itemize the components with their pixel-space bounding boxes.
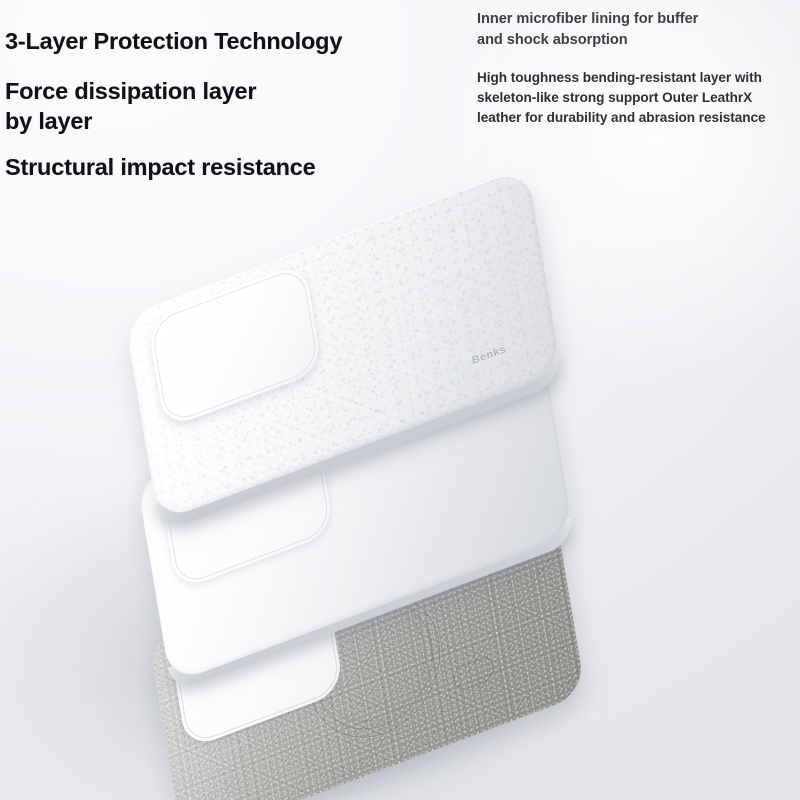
paragraph-microfiber-lining: Inner microfiber lining for buffer and s… <box>477 9 698 51</box>
headline-force-dissipation: Force dissipation layer by layer <box>5 76 256 136</box>
paragraph-toughness-leather: High toughness bending-resistant layer w… <box>477 68 766 128</box>
headline-protection-technology: 3-Layer Protection Technology <box>5 26 342 56</box>
headline-structural-impact: Structural impact resistance <box>5 152 315 182</box>
product-feature-image: Benks 3-Layer Protection Technology Forc… <box>0 0 800 800</box>
